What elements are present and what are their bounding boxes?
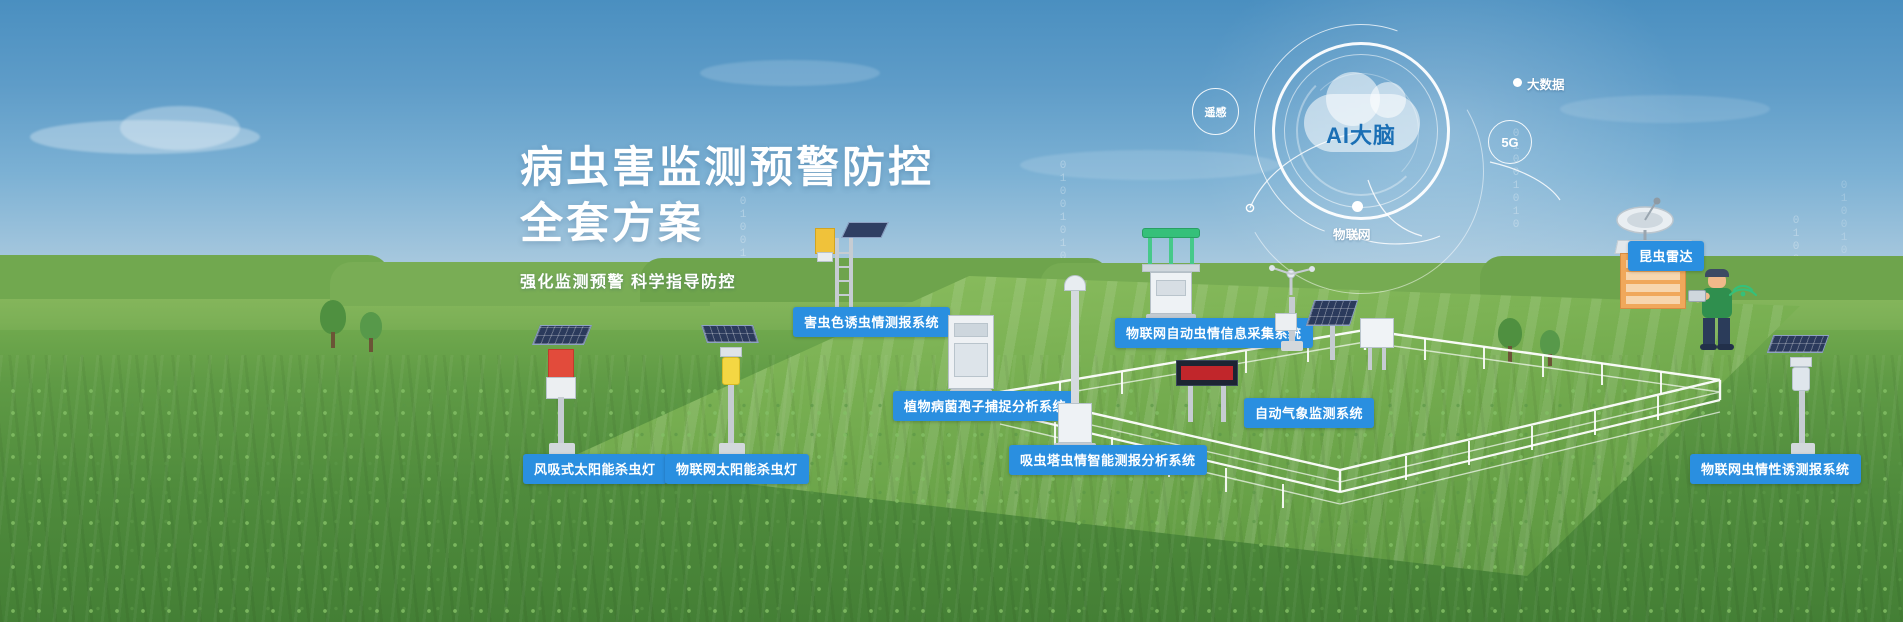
tree-decor [320, 300, 346, 348]
tree-decor [1498, 318, 1522, 362]
ai-brain-hub: AI大脑 [1272, 42, 1450, 220]
node-5g[interactable]: 5G [1488, 120, 1532, 164]
cloud-shape-decor [700, 60, 880, 86]
chip-suction-tower[interactable]: 吸虫塔虫情智能测报分析系统 [1009, 445, 1207, 475]
equipment-color-lure-pest-forecast [815, 222, 887, 317]
node-big-data-label: 大数据 [1527, 74, 1565, 93]
equipment-wind-suction-solar-insect-lamp [530, 325, 600, 455]
node-remote-sensing[interactable]: 遥感 [1192, 88, 1239, 135]
chip-color-lure-pest-forecast[interactable]: 害虫色诱虫情测报系统 [793, 307, 950, 337]
node-iot-label: 物联网 [1333, 224, 1371, 243]
equipment-led-display-board [1176, 360, 1242, 430]
node-dot-big-data [1513, 78, 1522, 87]
cloud-shape-decor [1560, 95, 1770, 123]
tree-decor [360, 312, 382, 352]
chip-auto-weather-monitoring[interactable]: 自动气象监测系统 [1244, 398, 1374, 428]
node-dot-iot [1352, 201, 1363, 212]
equipment-iot-pheromone-lure [1770, 335, 1842, 455]
equipment-suction-tower [1052, 275, 1100, 455]
equipment-weather-solar-panel [1310, 300, 1360, 370]
hero-title-line-1: 病虫害监测预警防控 [520, 140, 934, 196]
anemometer-icon [1265, 265, 1325, 299]
chip-insect-radar[interactable]: 昆虫雷达 [1628, 241, 1704, 271]
cloud-shape-decor [120, 106, 240, 150]
chip-wind-suction-solar-insect-lamp[interactable]: 风吸式太阳能杀虫灯 [523, 454, 667, 484]
equipment-weather-shelter-box [1360, 318, 1402, 378]
chip-iot-pheromone-lure[interactable]: 物联网虫情性诱测报系统 [1690, 454, 1861, 484]
wifi-signal-icon [1726, 268, 1766, 302]
tree-decor [1540, 330, 1560, 366]
hero-banner: 0100101011 010010101101001 01001010 0100… [0, 0, 1903, 622]
ai-brain-label: AI大脑 [1272, 118, 1450, 150]
equipment-iot-solar-insect-lamp [700, 325, 770, 455]
chip-iot-solar-insect-lamp[interactable]: 物联网太阳能杀虫灯 [665, 454, 809, 484]
chip-plant-spore-capture[interactable]: 植物病菌孢子捕捉分析系统 [893, 391, 1077, 421]
